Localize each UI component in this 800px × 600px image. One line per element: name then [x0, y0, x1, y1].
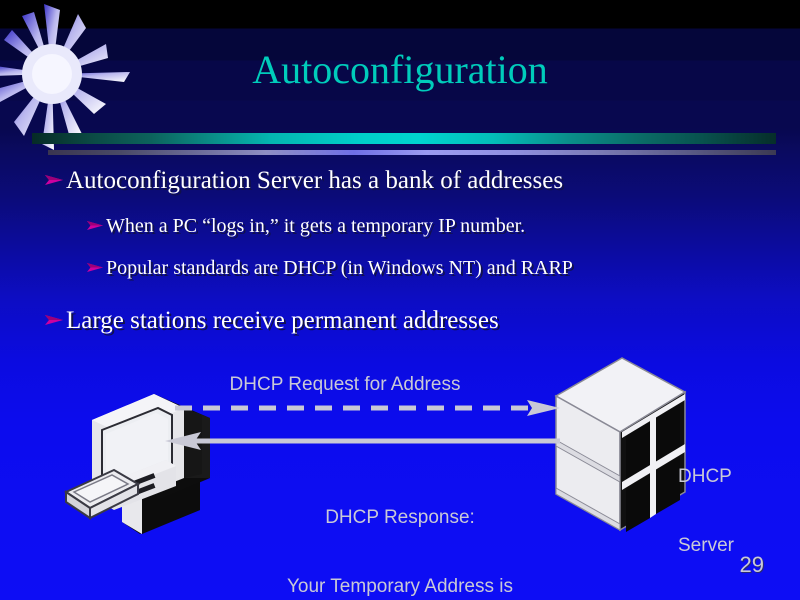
- bullet-item-2: When a PC “logs in,” it gets a temporary…: [86, 214, 525, 238]
- bullet-arrow-icon: [44, 306, 66, 336]
- slide-canvas: Autoconfiguration Autoconfiguration Serv…: [0, 0, 800, 600]
- bullet-item-1: Autoconfiguration Server has a bank of a…: [44, 166, 563, 196]
- accent-bar-blue: [48, 150, 776, 155]
- server-label: DHCP Server: [678, 419, 734, 600]
- response-label-line-1: DHCP Response:: [110, 506, 690, 529]
- request-label: DHCP Request for Address: [0, 373, 690, 396]
- bullet-arrow-icon: [86, 256, 106, 280]
- bullet-arrow-icon: [44, 166, 66, 196]
- response-label-line-2: Your Temporary Address is: [110, 575, 690, 598]
- page-number: 29: [740, 552, 764, 578]
- bullet-arrow-icon: [86, 214, 106, 238]
- bullet-text: Popular standards are DHCP (in Windows N…: [106, 256, 573, 280]
- response-label: DHCP Response: Your Temporary Address is…: [110, 460, 690, 600]
- bullet-text: When a PC “logs in,” it gets a temporary…: [106, 214, 525, 238]
- request-arrow-icon: [175, 400, 560, 416]
- page-title: Autoconfiguration: [0, 47, 800, 93]
- server-label-line-1: DHCP: [678, 465, 734, 488]
- bullet-item-4: Large stations receive permanent address…: [44, 306, 499, 336]
- bullet-text: Large stations receive permanent address…: [66, 306, 499, 336]
- accent-bar-teal: [32, 133, 776, 144]
- bullet-item-3: Popular standards are DHCP (in Windows N…: [86, 256, 573, 280]
- response-arrow-icon: [165, 432, 560, 450]
- server-label-line-2: Server: [678, 534, 734, 557]
- bullet-text: Autoconfiguration Server has a bank of a…: [66, 166, 563, 196]
